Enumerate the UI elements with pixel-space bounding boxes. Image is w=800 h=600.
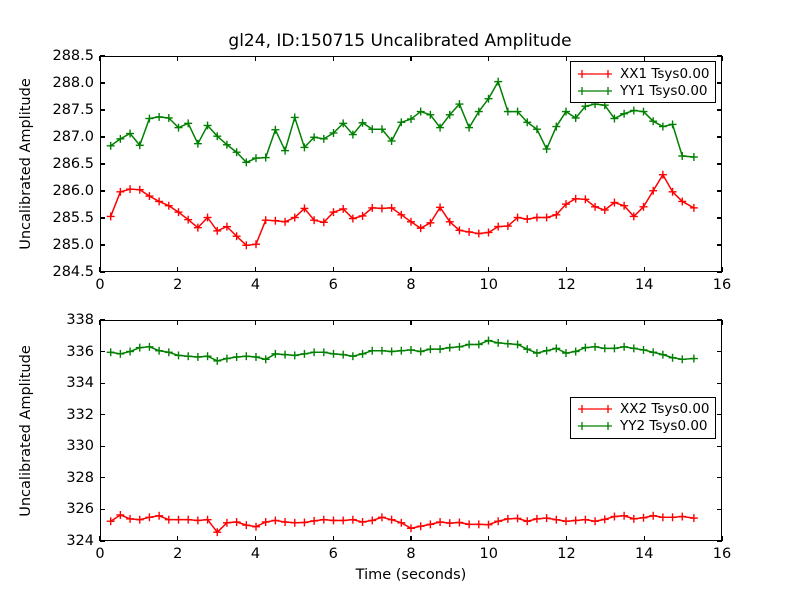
x-tick-mark bbox=[488, 56, 489, 61]
y-tick-mark bbox=[717, 217, 722, 218]
y-tick-label: 332 bbox=[0, 407, 94, 423]
x-tick-mark bbox=[488, 536, 489, 541]
y-tick-mark bbox=[100, 82, 105, 83]
y-tick-label: 287.0 bbox=[0, 129, 94, 145]
y-tick-mark bbox=[100, 109, 105, 110]
y-tick-mark bbox=[100, 244, 105, 245]
x-tick-mark bbox=[255, 536, 256, 541]
y-tick-label: 287.5 bbox=[0, 102, 94, 118]
y-tick-label: 285.0 bbox=[0, 237, 94, 253]
x-tick-mark bbox=[566, 56, 567, 61]
y-tick-mark bbox=[717, 82, 722, 83]
x-tick-mark bbox=[255, 56, 256, 61]
y-tick-mark bbox=[100, 509, 105, 510]
x-tick-mark bbox=[566, 536, 567, 541]
x-tick-mark bbox=[99, 320, 100, 325]
x-tick-mark bbox=[177, 536, 178, 541]
y-tick-label: 285.5 bbox=[0, 210, 94, 226]
y-tick-mark bbox=[717, 383, 722, 384]
x-tick-mark bbox=[177, 267, 178, 272]
y-tick-mark bbox=[100, 190, 105, 191]
x-tick-label: 4 bbox=[251, 277, 260, 293]
x-tick-label: 6 bbox=[329, 277, 338, 293]
x-tick-mark bbox=[255, 267, 256, 272]
legend-label-yy2: YY2 Tsys0.00 bbox=[620, 418, 708, 434]
x-tick-mark bbox=[644, 536, 645, 541]
x-tick-mark bbox=[333, 267, 334, 272]
y-tick-label: 288.5 bbox=[0, 48, 94, 64]
legend-swatch-xx2 bbox=[576, 402, 614, 416]
y-tick-label: 284.5 bbox=[0, 264, 94, 280]
x-tick-mark bbox=[566, 320, 567, 325]
x-tick-label: 10 bbox=[480, 546, 498, 562]
x-tick-mark bbox=[99, 536, 100, 541]
x-tick-label: 16 bbox=[713, 546, 731, 562]
x-tick-mark bbox=[410, 536, 411, 541]
legend-label-yy1: YY1 Tsys0.00 bbox=[620, 83, 708, 99]
x-tick-mark bbox=[721, 536, 722, 541]
y-tick-mark bbox=[717, 190, 722, 191]
y-tick-mark bbox=[717, 414, 722, 415]
x-tick-label: 6 bbox=[329, 546, 338, 562]
y-tick-mark bbox=[100, 446, 105, 447]
x-tick-label: 0 bbox=[95, 277, 104, 293]
y-tick-label: 288.0 bbox=[0, 75, 94, 91]
legend-swatch-yy1 bbox=[576, 84, 614, 98]
x-axis-label: Time (seconds) bbox=[356, 567, 467, 583]
x-tick-mark bbox=[333, 320, 334, 325]
figure-title: gl24, ID:150715 Uncalibrated Amplitude bbox=[0, 31, 800, 51]
legend-swatch-xx1 bbox=[576, 67, 614, 81]
y-tick-label: 338 bbox=[0, 312, 94, 328]
x-tick-mark bbox=[255, 320, 256, 325]
y-tick-mark bbox=[100, 540, 105, 541]
legend-swatch-yy2 bbox=[576, 419, 614, 433]
x-tick-mark bbox=[410, 320, 411, 325]
x-tick-mark bbox=[644, 267, 645, 272]
x-tick-mark bbox=[333, 536, 334, 541]
y-tick-label: 328 bbox=[0, 470, 94, 486]
figure-canvas: gl24, ID:150715 Uncalibrated Amplitude 2… bbox=[0, 0, 800, 600]
x-tick-label: 2 bbox=[173, 546, 182, 562]
x-tick-mark bbox=[177, 56, 178, 61]
y-tick-label: 286.0 bbox=[0, 183, 94, 199]
y-tick-mark bbox=[100, 477, 105, 478]
legend-entry-xx1[interactable]: XX1 Tsys0.00 bbox=[576, 65, 710, 82]
x-tick-label: 14 bbox=[635, 277, 653, 293]
y-tick-mark bbox=[717, 477, 722, 478]
x-tick-mark bbox=[177, 320, 178, 325]
y-tick-mark bbox=[100, 217, 105, 218]
legend-label-xx2: XX2 Tsys0.00 bbox=[620, 401, 710, 417]
y-tick-mark bbox=[717, 136, 722, 137]
y-tick-mark bbox=[100, 351, 105, 352]
x-tick-mark bbox=[99, 267, 100, 272]
x-tick-mark bbox=[99, 56, 100, 61]
y-tick-label: 336 bbox=[0, 344, 94, 360]
x-tick-mark bbox=[721, 267, 722, 272]
y-tick-mark bbox=[100, 136, 105, 137]
legend-label-xx1: XX1 Tsys0.00 bbox=[620, 66, 710, 82]
x-tick-mark bbox=[644, 320, 645, 325]
legend-entry-yy1[interactable]: YY1 Tsys0.00 bbox=[576, 82, 710, 99]
data-series-xx1 bbox=[107, 171, 698, 250]
legend-top[interactable]: XX1 Tsys0.00 YY1 Tsys0.00 bbox=[570, 61, 716, 103]
y-tick-mark bbox=[717, 351, 722, 352]
y-axis-label-bottom: Uncalibrated Amplitude bbox=[18, 345, 34, 517]
x-tick-mark bbox=[721, 56, 722, 61]
y-tick-mark bbox=[717, 244, 722, 245]
legend-entry-yy2[interactable]: YY2 Tsys0.00 bbox=[576, 418, 710, 435]
x-tick-mark bbox=[410, 56, 411, 61]
x-tick-mark bbox=[488, 320, 489, 325]
legend-bottom[interactable]: XX2 Tsys0.00 YY2 Tsys0.00 bbox=[570, 397, 716, 439]
x-tick-mark bbox=[488, 267, 489, 272]
x-tick-label: 16 bbox=[713, 277, 731, 293]
x-tick-mark bbox=[410, 267, 411, 272]
y-tick-label: 334 bbox=[0, 375, 94, 391]
y-tick-mark bbox=[717, 163, 722, 164]
y-tick-mark bbox=[717, 109, 722, 110]
x-tick-label: 4 bbox=[251, 546, 260, 562]
y-tick-mark bbox=[100, 383, 105, 384]
x-tick-label: 14 bbox=[635, 546, 653, 562]
x-tick-label: 8 bbox=[406, 277, 415, 293]
x-tick-label: 10 bbox=[480, 277, 498, 293]
y-tick-mark bbox=[100, 163, 105, 164]
x-tick-label: 8 bbox=[406, 546, 415, 562]
x-tick-mark bbox=[566, 267, 567, 272]
y-tick-label: 326 bbox=[0, 501, 94, 517]
y-tick-mark bbox=[100, 55, 105, 56]
y-tick-mark bbox=[100, 319, 105, 320]
y-tick-mark bbox=[717, 446, 722, 447]
y-tick-label: 330 bbox=[0, 438, 94, 454]
y-tick-mark bbox=[100, 271, 105, 272]
y-tick-label: 286.5 bbox=[0, 156, 94, 172]
data-series-yy2 bbox=[107, 337, 698, 365]
y-tick-label: 324 bbox=[0, 533, 94, 549]
x-tick-label: 0 bbox=[95, 546, 104, 562]
x-tick-mark bbox=[721, 320, 722, 325]
x-tick-label: 12 bbox=[557, 277, 575, 293]
x-tick-mark bbox=[333, 56, 334, 61]
x-tick-label: 2 bbox=[173, 277, 182, 293]
x-tick-label: 12 bbox=[557, 546, 575, 562]
y-tick-mark bbox=[100, 414, 105, 415]
y-tick-mark bbox=[717, 509, 722, 510]
legend-entry-xx2[interactable]: XX2 Tsys0.00 bbox=[576, 401, 710, 418]
y-axis-label-top: Uncalibrated Amplitude bbox=[18, 78, 34, 250]
data-series-xx2 bbox=[107, 511, 698, 536]
